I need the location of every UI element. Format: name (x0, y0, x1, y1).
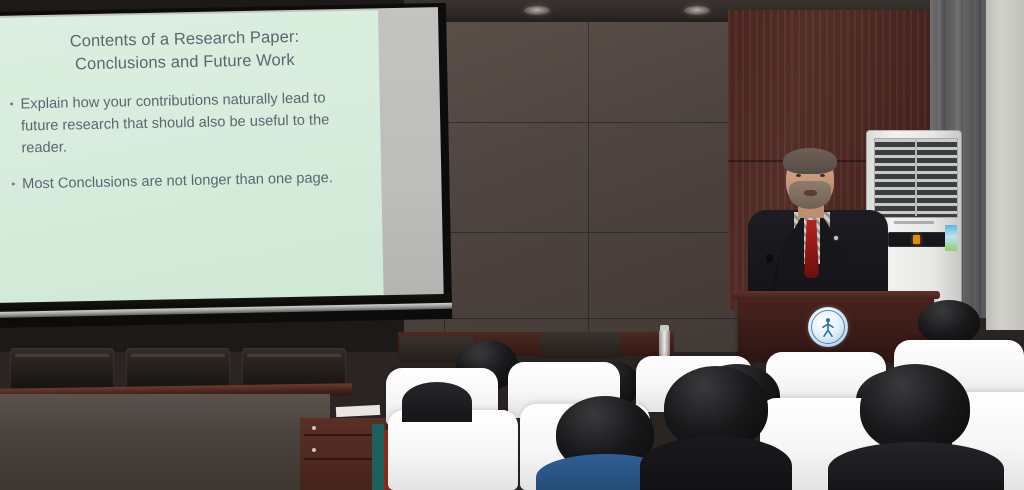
slide-title: Contents of a Research Paper: Conclusion… (6, 25, 363, 79)
slide-bullet-text: Most Conclusions are not longer than one… (22, 168, 333, 196)
podium-top-edge (732, 291, 940, 299)
teal-object (372, 424, 384, 490)
audience-shoulders (640, 436, 792, 490)
water-bottle (659, 330, 670, 358)
slide-bullet-text: Explain how your contributions naturally… (20, 88, 358, 160)
head-table (0, 394, 330, 490)
audience-shoulders (402, 382, 472, 422)
paper-stack (336, 405, 380, 417)
slide-bullet-list: • Explain how your contributions natural… (8, 87, 366, 196)
water-bottle-cap (660, 325, 669, 331)
emblem-figure-icon (818, 316, 838, 338)
empty-chair (126, 348, 230, 390)
speaker-mouth (804, 190, 817, 196)
ac-display-digit (913, 235, 920, 244)
lecture-hall-photo: Contents of a Research Paper: Conclusion… (0, 0, 1024, 490)
ceiling-downlight-icon (684, 6, 710, 15)
speaker-lapel-pin (834, 236, 838, 240)
empty-chair (10, 348, 114, 390)
ac-brand-mark (894, 221, 934, 224)
ac-energy-label (945, 225, 957, 251)
audience-shoulders (828, 442, 1004, 490)
slide-bullet-item: • Explain how your contributions natural… (10, 88, 359, 161)
bullet-marker-icon: • (10, 94, 15, 160)
ceiling-downlight-icon (524, 6, 550, 15)
audience-head (918, 300, 980, 344)
audience-head-foreground (860, 364, 970, 452)
curtain-light-panel (986, 0, 1024, 330)
speaker-person (742, 148, 898, 310)
projected-slide: Contents of a Research Paper: Conclusion… (0, 10, 384, 314)
microphone-head-icon (766, 254, 773, 263)
podium-seal-emblem (808, 307, 848, 347)
bullet-marker-icon: • (11, 174, 15, 196)
audience-chair (540, 332, 620, 358)
slide-bullet-item: • Most Conclusions are not longer than o… (11, 167, 359, 196)
wall-panel-grid (404, 22, 740, 352)
chair-cover (388, 410, 518, 490)
speaker-hair (783, 148, 837, 174)
